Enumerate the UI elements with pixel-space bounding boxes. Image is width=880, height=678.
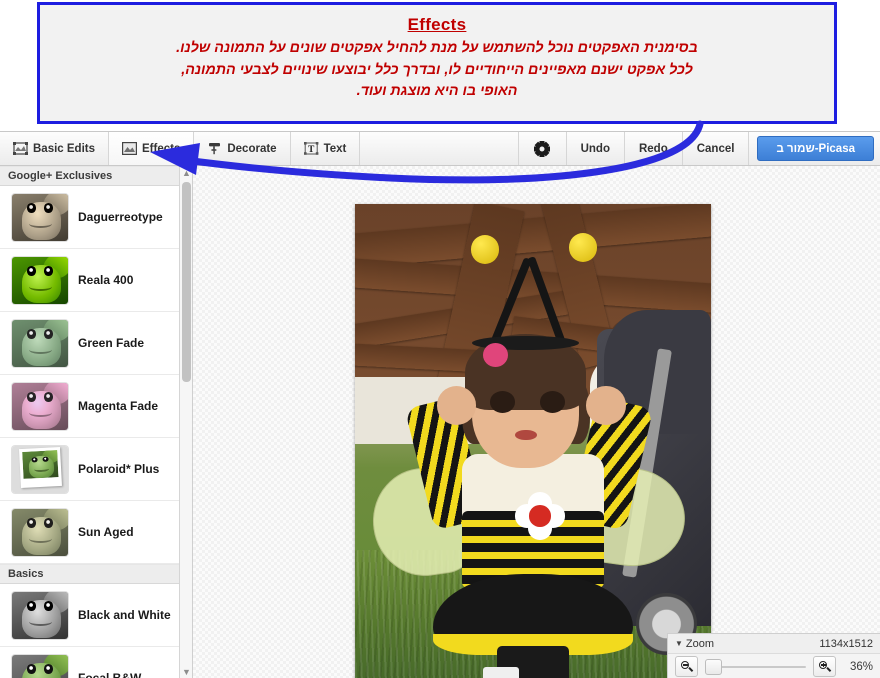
- edited-photo[interactable]: [355, 204, 711, 678]
- effect-label: Focal B&W: [78, 671, 141, 678]
- zoom-controls: 36%: [668, 654, 880, 678]
- zoom-label: Zoom: [686, 638, 714, 650]
- callout-line-1: בסימנית האפקטים נוכל להשתמש על מנת להחיל…: [52, 38, 822, 60]
- picasa-editor-window: Basic Edits Effects Decorate: [0, 131, 880, 676]
- group-header-basics: Basics: [0, 564, 192, 584]
- effect-thumbnail: [12, 509, 68, 556]
- svg-text:T: T: [308, 145, 315, 155]
- paint-roller-icon: [207, 142, 222, 155]
- tab-basic-edits-label: Basic Edits: [33, 143, 95, 155]
- callout-line-2: לכל אפקט ישנם מאפיינים הייחודיים לו, ובד…: [52, 60, 822, 82]
- tab-effects-label: Effects: [142, 143, 180, 155]
- chevron-down-icon[interactable]: ▼: [180, 665, 193, 678]
- zoom-slider-knob[interactable]: [705, 659, 722, 675]
- effect-label: Magenta Fade: [78, 399, 158, 413]
- effect-item-focal-bw[interactable]: Focal B&W: [0, 647, 192, 678]
- image-adjust-icon: [13, 142, 28, 155]
- effect-label: Polaroid* Plus: [78, 462, 159, 476]
- redo-button[interactable]: Redo: [625, 132, 683, 165]
- toolbar-spacer: [360, 132, 518, 165]
- zoom-panel: ▼ Zoom 1134x1512: [667, 633, 880, 678]
- effect-item-sun-aged[interactable]: Sun Aged: [0, 501, 192, 564]
- chevron-up-icon[interactable]: ▲: [180, 166, 193, 179]
- tab-effects[interactable]: Effects: [109, 132, 194, 165]
- scrollbar-thumb[interactable]: [182, 182, 191, 382]
- effect-item-polaroid-plus[interactable]: Polaroid* Plus: [0, 438, 192, 501]
- effect-thumbnail: [12, 592, 68, 639]
- picture-icon: [122, 142, 137, 155]
- sidebar-scrollbar[interactable]: ▲ ▼: [179, 166, 192, 678]
- effect-item-magenta-fade[interactable]: Magenta Fade: [0, 375, 192, 438]
- tab-text[interactable]: T Text: [291, 132, 361, 165]
- callout-line-3: האופי בו היא מוצגת ועוד.: [52, 81, 822, 103]
- zoom-percent: 36%: [843, 661, 873, 673]
- gear-icon: [535, 141, 550, 156]
- effect-thumbnail: [12, 194, 68, 241]
- tab-decorate-label: Decorate: [227, 143, 276, 155]
- cancel-button[interactable]: Cancel: [683, 132, 750, 165]
- effect-item-green-fade[interactable]: Green Fade: [0, 312, 192, 375]
- magnifier-plus-icon: [819, 661, 830, 672]
- magnifier-minus-icon: [681, 661, 692, 672]
- effect-label: Green Fade: [78, 336, 144, 350]
- editor-toolbar: Basic Edits Effects Decorate: [0, 132, 880, 166]
- annotation-callout: Effects בסימנית האפקטים נוכל להשתמש על מ…: [37, 2, 837, 124]
- callout-body: בסימנית האפקטים נוכל להשתמש על מנת להחיל…: [40, 38, 834, 103]
- save-to-picasa-button[interactable]: שמור ב-Picasa: [757, 136, 874, 161]
- effect-label: Reala 400: [78, 273, 133, 287]
- effect-thumbnail: [12, 446, 68, 493]
- text-box-icon: T: [304, 142, 319, 155]
- tab-basic-edits[interactable]: Basic Edits: [0, 132, 109, 165]
- effect-label: Sun Aged: [78, 525, 134, 539]
- zoom-out-button[interactable]: [675, 656, 698, 677]
- editor-body: Google+ Exclusives Daguerreotype Reala 4…: [0, 166, 880, 678]
- effect-item-black-and-white[interactable]: Black and White: [0, 584, 192, 647]
- group-header-google-exclusives: Google+ Exclusives: [0, 166, 192, 186]
- tab-text-label: Text: [324, 143, 347, 155]
- effect-label: Black and White: [78, 608, 171, 622]
- zoom-in-button[interactable]: [813, 656, 836, 677]
- flower-decoration: [515, 492, 565, 540]
- zoom-slider[interactable]: [705, 660, 806, 674]
- effect-label: Daguerreotype: [78, 210, 163, 224]
- zoom-header[interactable]: ▼ Zoom 1134x1512: [668, 634, 880, 654]
- effect-thumbnail: [12, 383, 68, 430]
- effect-item-daguerreotype[interactable]: Daguerreotype: [0, 186, 192, 249]
- settings-button[interactable]: [519, 132, 567, 165]
- callout-title: Effects: [40, 15, 834, 35]
- image-dimensions: 1134x1512: [819, 638, 873, 650]
- tab-decorate[interactable]: Decorate: [194, 132, 290, 165]
- effect-thumbnail: [12, 320, 68, 367]
- effects-list[interactable]: Daguerreotype Reala 400 Green Fade: [0, 186, 192, 678]
- effects-sidebar: Google+ Exclusives Daguerreotype Reala 4…: [0, 166, 193, 678]
- caret-down-icon[interactable]: ▼: [675, 639, 683, 648]
- effect-thumbnail: [12, 257, 68, 304]
- effect-thumbnail: [12, 655, 68, 678]
- photo-canvas[interactable]: ▼ Zoom 1134x1512: [193, 166, 880, 678]
- effect-item-reala-400[interactable]: Reala 400: [0, 249, 192, 312]
- undo-button[interactable]: Undo: [567, 132, 625, 165]
